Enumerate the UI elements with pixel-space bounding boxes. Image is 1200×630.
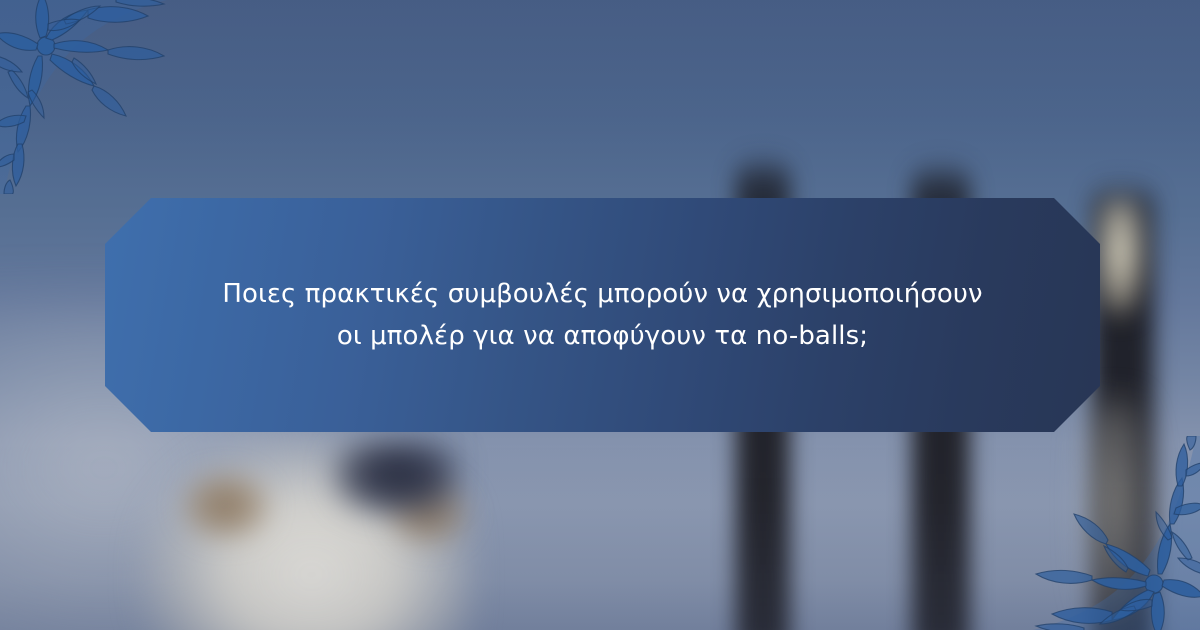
share-card: Ποιες πρακτικές συμβουλές μπορούν να χρη… bbox=[0, 0, 1200, 630]
headline-text: Ποιες πρακτικές συμβουλές μπορούν να χρη… bbox=[208, 273, 998, 357]
headline-banner: Ποιες πρακτικές συμβουλές μπορούν να χρη… bbox=[105, 198, 1100, 432]
